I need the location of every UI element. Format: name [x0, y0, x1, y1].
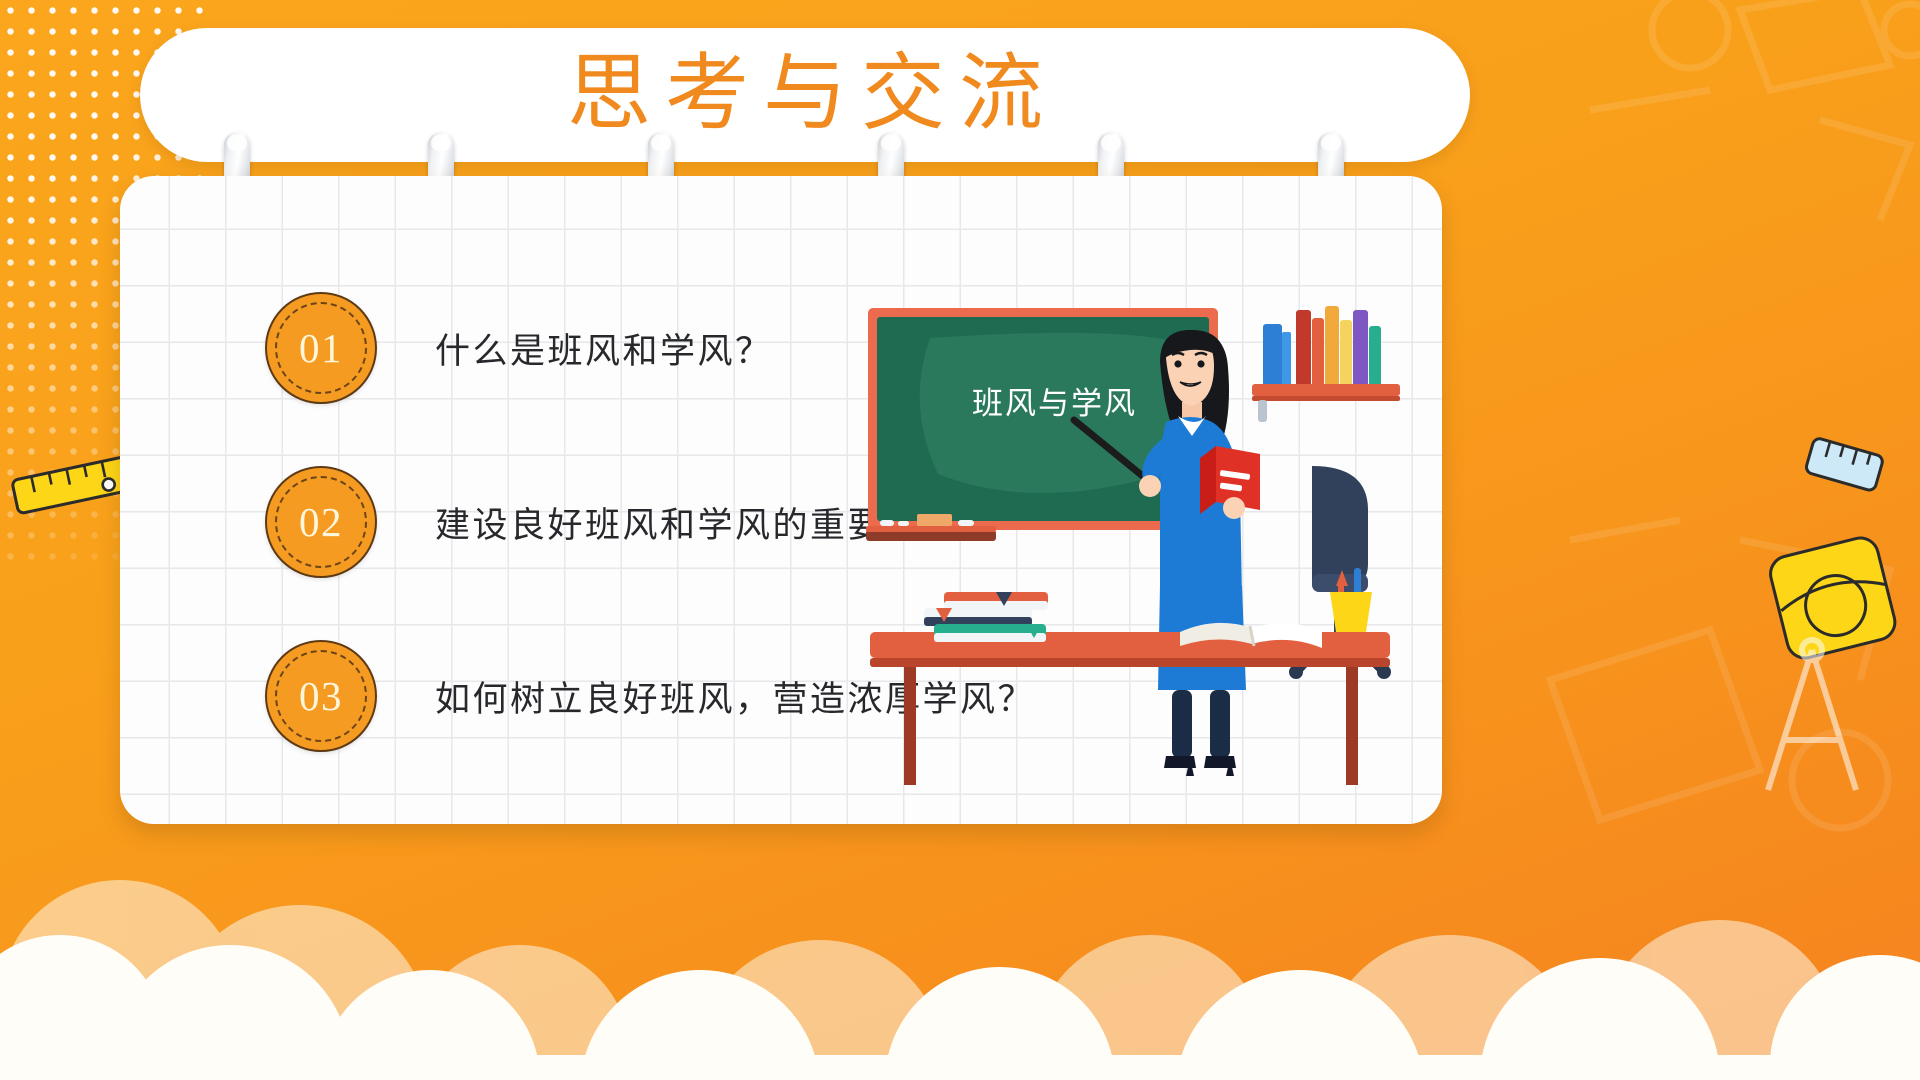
classroom-illustration: 班风与学风: [860, 296, 1430, 806]
item-number: 03: [299, 672, 343, 720]
list-item[interactable]: 02 建设良好班风和学风的重要性？: [265, 466, 960, 578]
list-item[interactable]: 01 什么是班风和学风？: [265, 292, 773, 404]
content-card: 01 什么是班风和学风？ 02 建设良好班风和学风的重要性？ 03 如何树立良好…: [120, 176, 1442, 824]
background-doodles: [1440, 0, 1920, 330]
item-number-badge: 03: [265, 640, 377, 752]
book-stack-icon: [924, 592, 1048, 642]
item-number-badge: 02: [265, 466, 377, 578]
item-number: 02: [299, 498, 343, 546]
item-number: 01: [299, 324, 343, 372]
compass-icon: [1732, 630, 1892, 820]
item-label: 什么是班风和学风？: [435, 323, 773, 374]
cloud-decoration: [0, 850, 1920, 1080]
slide-title-banner: 思考与交流: [140, 28, 1470, 162]
ruler-icon: [8, 440, 138, 530]
desk: [870, 632, 1390, 785]
slide-canvas: 思考与交流 01 什么是班风和学风？ 02 建设良好班风和学风的重要性？ 03: [0, 0, 1920, 1080]
bookshelf-icon: [1252, 306, 1400, 422]
item-number-badge: 01: [265, 292, 377, 404]
blackboard-text: 班风与学风: [972, 386, 1137, 421]
page-title: 思考与交流: [553, 53, 1057, 137]
